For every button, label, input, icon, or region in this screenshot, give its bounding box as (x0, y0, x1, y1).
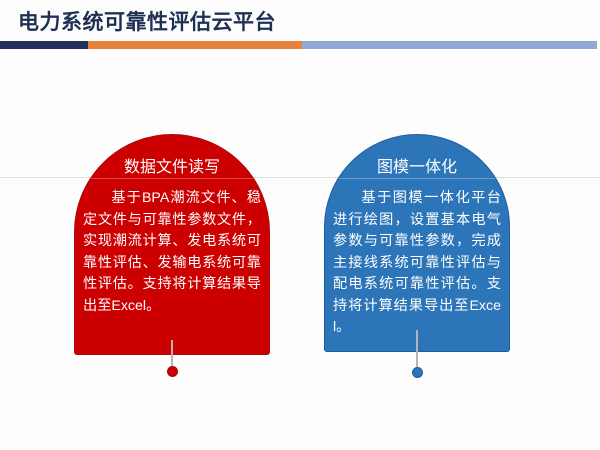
connector-dot-red (167, 366, 178, 377)
feature-card-data-file-io[interactable]: 数据文件读写 基于BPA潮流文件、稳定文件与可靠性参数文件，实现潮流计算、发电系… (74, 134, 270, 355)
connector-stem-blue (416, 330, 418, 371)
header-accent-rule (0, 41, 597, 49)
connector-dot-blue (412, 367, 423, 378)
accent-segment-navy (0, 41, 88, 49)
feature-card-body: 基于BPA潮流文件、稳定文件与可靠性参数文件，实现潮流计算、发电系统可靠性评估、… (83, 188, 261, 317)
slide-canvas: 电力系统可靠性评估云平台 数据文件读写 基于BPA潮流文件、稳定文件与可靠性参数… (0, 0, 600, 450)
page-title: 电力系统可靠性评估云平台 (18, 8, 276, 38)
feature-card-title: 数据文件读写 (75, 157, 269, 179)
accent-segment-orange (88, 41, 302, 49)
feature-card-graph-model-integration[interactable]: 图模一体化 基于图模一体化平台进行绘图，设置基本电气参数与可靠性参数，完成主接线… (324, 134, 510, 352)
feature-card-divider (75, 178, 269, 179)
accent-segment-blue (302, 41, 597, 49)
feature-card-body: 基于图模一体化平台进行绘图，设置基本电气参数与可靠性参数，完成主接线系统可靠性评… (333, 188, 501, 339)
feature-card-divider (325, 178, 509, 179)
feature-card-title: 图模一体化 (325, 157, 509, 179)
